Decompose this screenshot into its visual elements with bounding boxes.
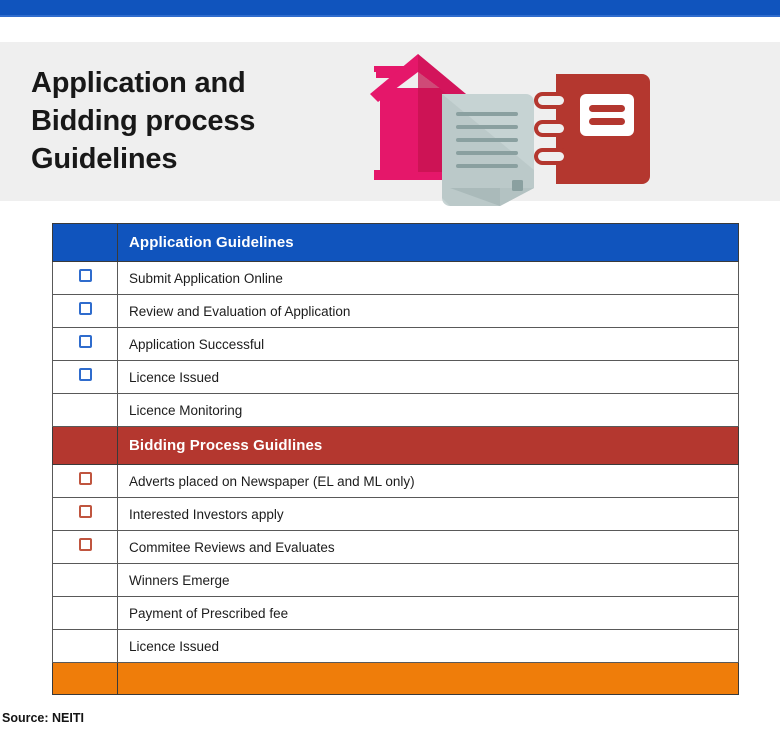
row-label-text: Licence Issued — [118, 370, 738, 385]
checkbox-cell-empty — [53, 630, 118, 663]
guidelines-table-wrapper: Application Guidelines Submit Applicatio… — [52, 223, 738, 695]
table-row[interactable]: Licence Issued — [53, 361, 739, 394]
row-label-cell: Submit Application Online — [118, 262, 739, 295]
table-row[interactable]: Winners Emerge — [53, 564, 739, 597]
checkbox-icon[interactable] — [79, 368, 92, 381]
row-label-cell: Application Successful — [118, 328, 739, 361]
row-label-cell: Payment of Prescribed fee — [118, 597, 739, 630]
table-row[interactable]: Licence Issued — [53, 630, 739, 663]
row-label-text: Interested Investors apply — [118, 507, 738, 522]
table-row[interactable]: Submit Application Online — [53, 262, 739, 295]
source-note: Source: NEITI — [2, 711, 84, 725]
checkbox-cell-empty — [53, 564, 118, 597]
footer-band-cell — [118, 663, 739, 695]
guidelines-table: Application Guidelines Submit Applicatio… — [52, 223, 739, 695]
checkbox-cell-empty — [53, 394, 118, 427]
section-header-title-cell: Bidding Process Guidlines — [118, 427, 739, 465]
row-label-cell: Review and Evaluation of Application — [118, 295, 739, 328]
row-label-cell: Licence Monitoring — [118, 394, 739, 427]
checkbox-icon[interactable] — [79, 505, 92, 518]
section-header-spacer — [53, 427, 118, 465]
table-row[interactable]: Review and Evaluation of Application — [53, 295, 739, 328]
row-label-cell: Commitee Reviews and Evaluates — [118, 531, 739, 564]
row-label-text: Review and Evaluation of Application — [118, 304, 738, 319]
header-illustration — [366, 52, 656, 207]
section-title-text: Bidding Process Guidlines — [118, 437, 738, 454]
row-label-text: Commitee Reviews and Evaluates — [118, 540, 738, 555]
row-label-text: Payment of Prescribed fee — [118, 606, 738, 621]
page-title: Application and Bidding process Guidelin… — [31, 64, 361, 178]
footer-band-row — [53, 663, 739, 695]
checkbox-cell-empty — [53, 597, 118, 630]
checkbox-icon[interactable] — [79, 269, 92, 282]
table-row[interactable]: Payment of Prescribed fee — [53, 597, 739, 630]
section-header-spacer — [53, 224, 118, 262]
checkbox-icon[interactable] — [79, 472, 92, 485]
footer-band-spacer — [53, 663, 118, 695]
row-label-text: Application Successful — [118, 337, 738, 352]
checkbox-cell[interactable] — [53, 531, 118, 564]
notebook-icon — [534, 74, 650, 184]
table-row[interactable]: Adverts placed on Newspaper (EL and ML o… — [53, 465, 739, 498]
row-label-cell: Adverts placed on Newspaper (EL and ML o… — [118, 465, 739, 498]
section-header-application: Application Guidelines — [53, 224, 739, 262]
checkbox-icon[interactable] — [79, 335, 92, 348]
table-row[interactable]: Application Successful — [53, 328, 739, 361]
row-label-text: Submit Application Online — [118, 271, 738, 286]
checkbox-icon[interactable] — [79, 302, 92, 315]
checkbox-cell[interactable] — [53, 295, 118, 328]
table-row[interactable]: Interested Investors apply — [53, 498, 739, 531]
row-label-cell: Winners Emerge — [118, 564, 739, 597]
section-header-bidding: Bidding Process Guidlines — [53, 427, 739, 465]
checkbox-cell[interactable] — [53, 465, 118, 498]
checkbox-cell[interactable] — [53, 361, 118, 394]
row-label-cell: Interested Investors apply — [118, 498, 739, 531]
table-row[interactable]: Licence Monitoring — [53, 394, 739, 427]
section-header-title-cell: Application Guidelines — [118, 224, 739, 262]
row-label-text: Licence Monitoring — [118, 403, 738, 418]
row-label-text: Licence Issued — [118, 639, 738, 654]
checkbox-cell[interactable] — [53, 498, 118, 531]
row-label-cell: Licence Issued — [118, 361, 739, 394]
row-label-text: Adverts placed on Newspaper (EL and ML o… — [118, 474, 738, 489]
checkbox-cell[interactable] — [53, 328, 118, 361]
section-title-text: Application Guidelines — [118, 234, 738, 251]
row-label-cell: Licence Issued — [118, 630, 739, 663]
document-icon — [442, 94, 534, 206]
top-accent-bar — [0, 0, 780, 15]
row-label-text: Winners Emerge — [118, 573, 738, 588]
checkbox-icon[interactable] — [79, 538, 92, 551]
guidelines-table-body: Application Guidelines Submit Applicatio… — [53, 224, 739, 695]
top-accent-bar-shadow — [0, 15, 780, 17]
table-row[interactable]: Commitee Reviews and Evaluates — [53, 531, 739, 564]
checkbox-cell[interactable] — [53, 262, 118, 295]
